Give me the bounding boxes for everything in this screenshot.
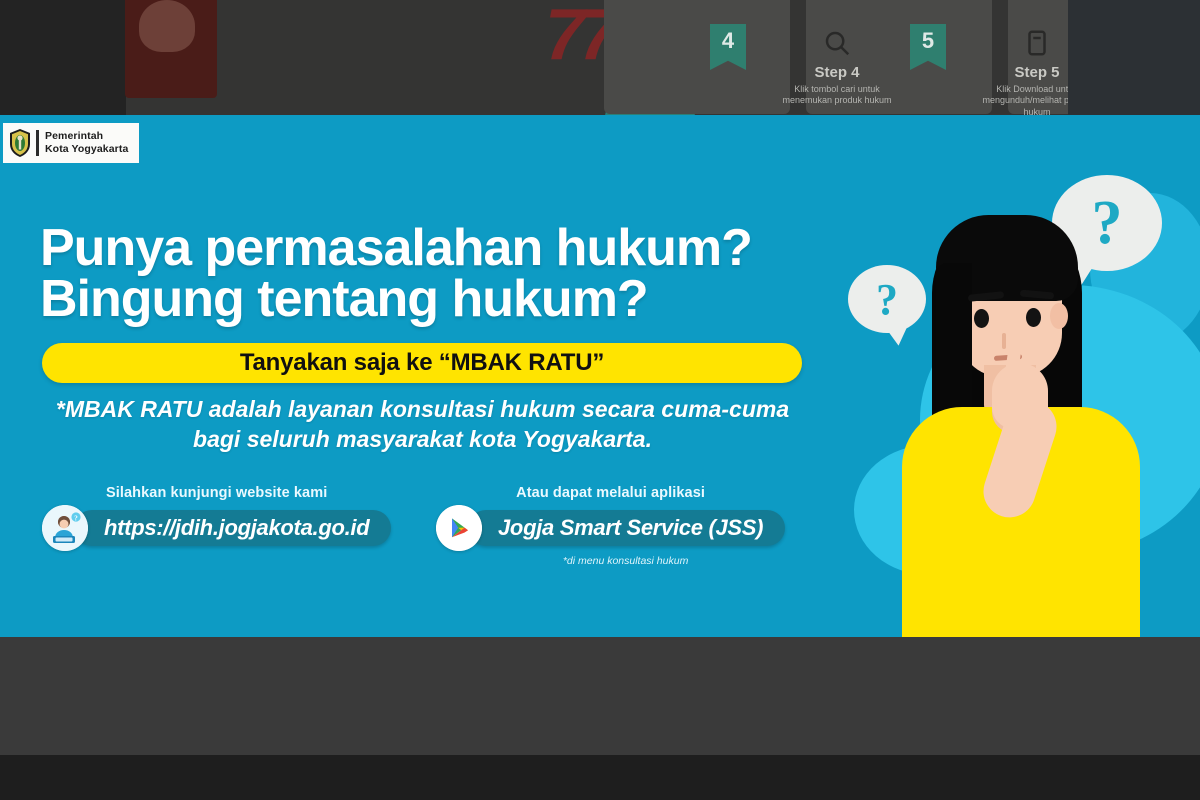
step-title: Step 4	[744, 64, 930, 81]
website-url: https://jdih.jogjakota.go.id	[104, 515, 369, 541]
background-right-panel	[1068, 0, 1200, 118]
logo-divider	[36, 130, 39, 156]
google-play-icon	[436, 505, 482, 551]
background-figure-left	[125, 0, 217, 98]
eye-left	[974, 309, 989, 328]
background-left-panel	[0, 0, 126, 118]
headline-line-2: Bingung tentang hukum?	[40, 274, 752, 325]
search-icon	[822, 28, 852, 58]
speech-bubble-small: ?	[848, 265, 926, 333]
cta-banner[interactable]: Tanyakan saja ke “MBAK RATU”	[42, 343, 802, 383]
background-footer-bar	[0, 755, 1200, 800]
person-laptop-icon: ?	[42, 505, 88, 551]
background-step-4: 4 Step 4 Klik tombol cari untuk menemuka…	[744, 28, 930, 107]
step-description: Klik tombol cari untuk menemukan produk …	[744, 84, 930, 107]
hand	[992, 363, 1048, 429]
government-logo: Pemerintah Kota Yogyakarta	[3, 123, 139, 163]
eye-right	[1026, 308, 1041, 327]
city-crest-icon	[8, 128, 32, 158]
logo-text: Pemerintah Kota Yogyakarta	[45, 130, 128, 156]
app-name-pill[interactable]: Jogja Smart Service (JSS)	[468, 510, 785, 546]
document-icon	[1022, 28, 1052, 58]
nose	[1002, 333, 1006, 349]
website-url-pill[interactable]: https://jdih.jogjakota.go.id	[74, 510, 391, 546]
website-caption: Silahkan kunjungi website kami	[42, 485, 391, 501]
service-description: *MBAK RATU adalah layanan konsultasi huk…	[30, 395, 815, 455]
app-caption: Atau dapat melalui aplikasi	[436, 485, 785, 501]
cta-label: Tanyakan saja ke “MBAK RATU”	[240, 349, 604, 377]
logo-line-1: Pemerintah	[45, 130, 128, 143]
logo-line-2: Kota Yogyakarta	[45, 143, 128, 156]
anniversary-77-logo: 77	[545, 0, 613, 76]
app-name: Jogja Smart Service (JSS)	[498, 515, 763, 541]
mbak-ratu-banner: Pemerintah Kota Yogyakarta Punya permasa…	[0, 115, 1200, 637]
website-link-group: Silahkan kunjungi website kami ? https:/…	[42, 485, 391, 551]
background-top-strip: 77 4 Step 4 Klik tombol cari untuk menem…	[0, 0, 1200, 118]
svg-text:?: ?	[74, 515, 78, 523]
page-title: Punya permasalahan hukum? Bingung tentan…	[40, 223, 752, 325]
ear	[1050, 303, 1068, 329]
app-subnote: *di menu konsultasi hukum	[466, 555, 785, 567]
headline-line-1: Punya permasalahan hukum?	[40, 219, 752, 277]
app-link-group: Atau dapat melalui aplikasi Jogja Smart …	[436, 485, 785, 567]
thinking-woman-illustration: ? ?	[844, 167, 1174, 637]
